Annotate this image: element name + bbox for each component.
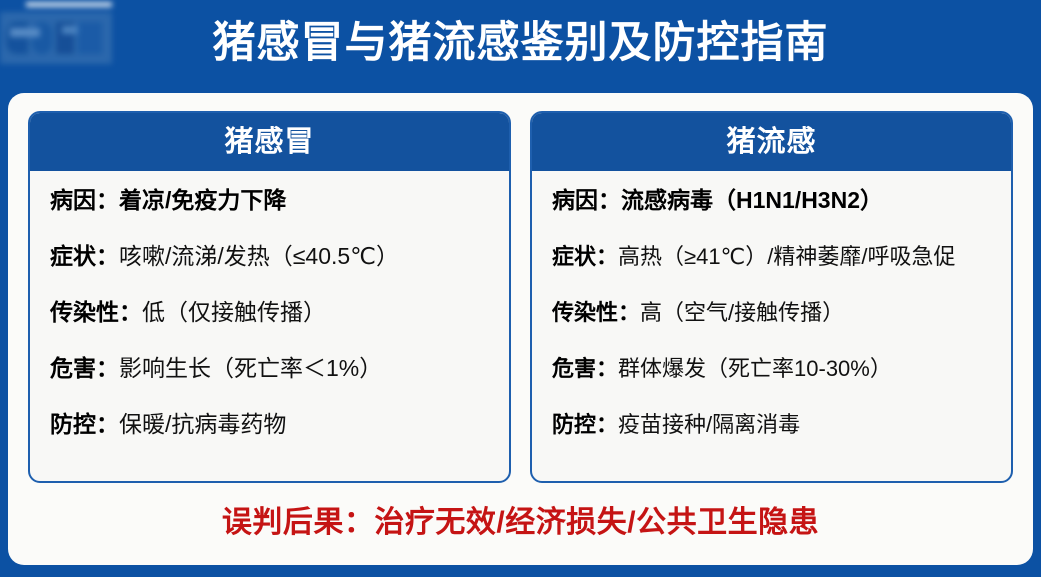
row-symptoms-label: 症状： [50, 243, 119, 269]
row-harm-value: 群体爆发（死亡率10-30%） [618, 356, 892, 381]
row-prevention-value: 保暖/抗病毒药物 [119, 411, 286, 437]
card-pig-cold: 猪感冒 病因：着凉/免疫力下降 症状：咳嗽/流涕/发热（≤40.5℃） 传染性：… [28, 111, 511, 483]
row-harm-value: 影响生长（死亡率＜1%） [119, 355, 382, 381]
row-prevention-label: 防控： [50, 411, 119, 437]
row-prevention-label: 防控： [552, 412, 618, 437]
row-symptoms: 症状：咳嗽/流涕/发热（≤40.5℃） [50, 243, 493, 270]
row-contagiousness-label: 传染性： [552, 300, 640, 325]
row-cause: 病因：着凉/免疫力下降 [50, 187, 493, 214]
misdiagnosis-warning: 误判后果：治疗无效/经济损失/公共卫生隐患 [8, 493, 1033, 553]
row-harm: 危害：群体爆发（死亡率10-30%） [552, 355, 995, 382]
row-contagiousness-value: 低（仅接触传播） [142, 299, 326, 325]
row-prevention: 防控：保暖/抗病毒药物 [50, 411, 493, 438]
card-pig-cold-header: 猪感冒 [30, 113, 509, 171]
row-prevention-value: 疫苗接种/隔离消毒 [618, 412, 800, 437]
row-harm: 危害：影响生长（死亡率＜1%） [50, 355, 493, 382]
row-harm-label: 危害： [552, 356, 618, 381]
card-swine-flu: 猪流感 病因：流感病毒（H1N1/H3N2） 症状：高热（≥41℃）/精神萎靡/… [530, 111, 1013, 483]
row-cause-value: 流感病毒（H1N1/H3N2） [621, 187, 883, 213]
row-contagiousness: 传染性：低（仅接触传播） [50, 299, 493, 326]
card-pig-cold-body: 病因：着凉/免疫力下降 症状：咳嗽/流涕/发热（≤40.5℃） 传染性：低（仅接… [30, 171, 509, 481]
row-cause-label: 病因： [552, 187, 621, 213]
row-contagiousness-label: 传染性： [50, 299, 142, 325]
content-panel: 猪感冒 病因：着凉/免疫力下降 症状：咳嗽/流涕/发热（≤40.5℃） 传染性：… [8, 93, 1033, 565]
row-cause-label: 病因： [50, 187, 119, 213]
row-contagiousness-value: 高（空气/接触传播） [640, 300, 844, 325]
comparison-cards: 猪感冒 病因：着凉/免疫力下降 症状：咳嗽/流涕/发热（≤40.5℃） 传染性：… [28, 111, 1013, 483]
row-symptoms-value: 咳嗽/流涕/发热（≤40.5℃） [119, 243, 399, 269]
row-harm-label: 危害： [50, 355, 119, 381]
slide-root: 猪感冒与猪流感鉴别及防控指南 猪感冒 病因：着凉/免疫力下降 症状：咳嗽/流涕/… [0, 0, 1041, 577]
row-symptoms-value: 高热（≥41℃）/精神萎靡/呼吸急促 [618, 244, 955, 269]
slide-title: 猪感冒与猪流感鉴别及防控指南 [0, 8, 1041, 78]
row-cause: 病因：流感病毒（H1N1/H3N2） [552, 187, 995, 214]
row-contagiousness: 传染性：高（空气/接触传播） [552, 299, 995, 326]
row-symptoms-label: 症状： [552, 244, 618, 269]
row-symptoms: 症状：高热（≥41℃）/精神萎靡/呼吸急促 [552, 243, 995, 270]
card-swine-flu-header: 猪流感 [532, 113, 1011, 171]
row-prevention: 防控：疫苗接种/隔离消毒 [552, 411, 995, 438]
card-swine-flu-body: 病因：流感病毒（H1N1/H3N2） 症状：高热（≥41℃）/精神萎靡/呼吸急促… [532, 171, 1011, 481]
row-cause-value: 着凉/免疫力下降 [119, 187, 286, 213]
